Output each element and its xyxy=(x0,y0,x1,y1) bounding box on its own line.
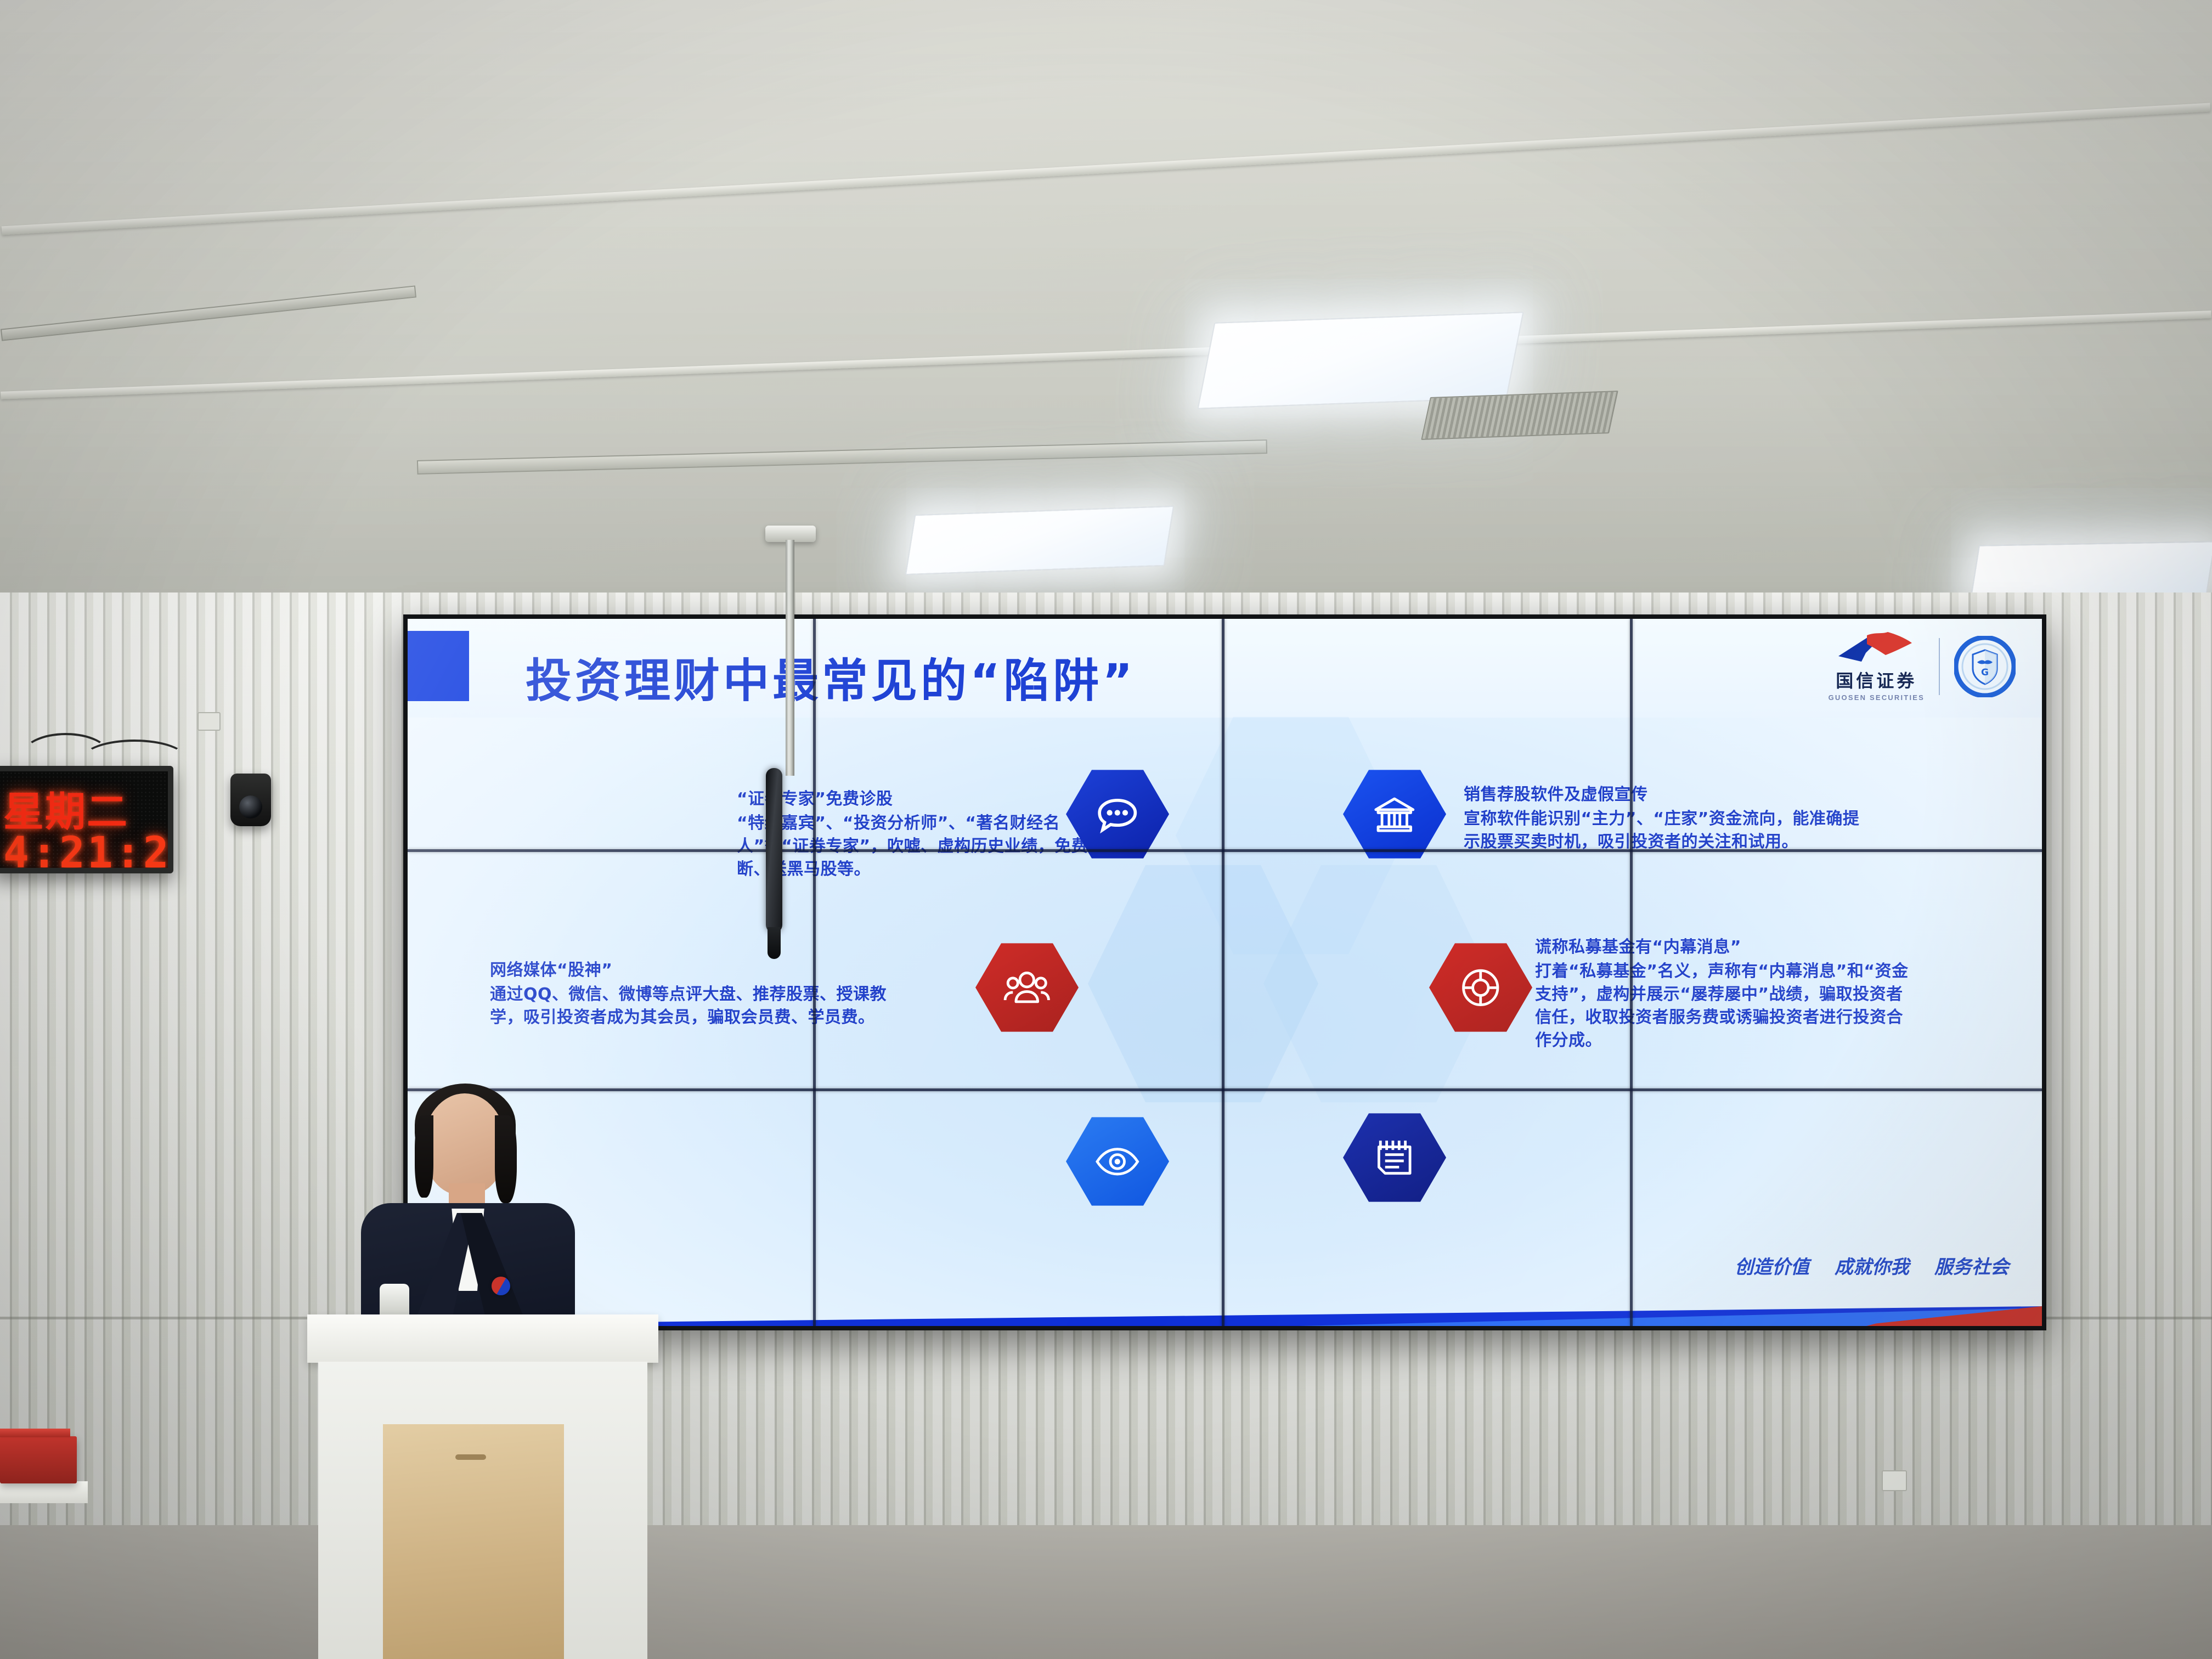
notepad-icon xyxy=(1343,1111,1446,1204)
title-accent-square xyxy=(408,631,469,701)
block-body: “特约嘉宾”、“投资分析师”、“著名财经名人”等“证券专家”，吹嘘、虚构历史业绩… xyxy=(737,814,1105,879)
guosen-flag-mark-icon xyxy=(1835,631,1917,666)
slide-text-block-middle-right: 谎称私募基金有“内幕消息” 打着“私募基金”名义，声称有“内幕消息”和“资金支持… xyxy=(1535,936,1919,1052)
room-scene: 星期二 4:21:24 投资理财中最常见的“陷阱” xyxy=(0,0,2212,1659)
head xyxy=(424,1093,506,1195)
wall-power-socket[interactable] xyxy=(198,712,221,731)
slide-text-block-top-left: “证券专家”免费诊股 “特约嘉宾”、“投资分析师”、“著名财经名人”等“证券专家… xyxy=(737,788,1132,881)
eye-icon xyxy=(1066,1115,1169,1207)
ceiling-light-panel xyxy=(1971,541,2212,597)
block-heading: 网络媒体“股神” xyxy=(490,959,896,982)
guosen-brand-name: 国信证券 xyxy=(1836,667,1917,692)
hanging-boundary-microphone-icon xyxy=(766,768,782,933)
lapel-pin-icon xyxy=(492,1277,510,1295)
microphone-tip xyxy=(768,927,781,959)
ceiling-light-panel xyxy=(905,506,1174,575)
guosen-logo: 国信证券 GUOSEN SECURITIES xyxy=(1829,631,1925,702)
logo-group: 国信证券 GUOSEN SECURITIES xyxy=(1829,631,2016,702)
podium-handle[interactable] xyxy=(455,1454,486,1460)
slide-text-block-middle-left: 网络媒体“股神” 通过QQ、微信、微博等点评大盘、推荐股票、授课教学，吸引投资者… xyxy=(490,959,896,1029)
tagline-part: 成就你我 xyxy=(1835,1252,1909,1279)
block-body: 通过QQ、微信、微博等点评大盘、推荐股票、授课教学，吸引投资者成为其会员，骗取会… xyxy=(490,985,887,1027)
presentation-slide: 投资理财中最常见的“陷阱” 国信证券 GUOSEN SECURITIES xyxy=(408,619,2042,1326)
wall-camera-icon xyxy=(230,774,271,826)
slide-text-block-top-right: 销售荐股软件及虚假宣传 宣称软件能识别“主力”、“庄家”资金流向，能准确提示股票… xyxy=(1464,783,1864,854)
power-cable xyxy=(82,740,187,778)
slide-title: 投资理财中最常见的“陷阱” xyxy=(526,644,1136,710)
led-time-text: 4:21:24 xyxy=(3,828,173,873)
ceiling-air-vent xyxy=(1421,391,1618,440)
podium-top-surface xyxy=(307,1314,658,1363)
guosen-brand-name-en: GUOSEN SECURITIES xyxy=(1829,693,1925,702)
ceiling-light-panel xyxy=(1197,312,1523,409)
video-wall-screen[interactable]: 投资理财中最常见的“陷阱” 国信证券 GUOSEN SECURITIES xyxy=(408,619,2042,1326)
ceiling xyxy=(0,0,2212,647)
block-body: 宣称软件能识别“主力”、“庄家”资金流向，能准确提示股票买卖时机，吸引投资者的关… xyxy=(1464,809,1859,851)
tagline-part: 创造价值 xyxy=(1735,1252,1809,1279)
users-group-icon xyxy=(975,941,1079,1034)
block-body: 打着“私募基金”名义，声称有“内幕消息”和“资金支持”，虚构并展示“屡荐屡中”战… xyxy=(1535,962,1909,1050)
ceiling-mic-pole xyxy=(786,540,794,776)
hair-side-right xyxy=(495,1115,517,1203)
block-heading: 谎称私募基金有“内幕消息” xyxy=(1535,936,1919,959)
tagline-part: 服务社会 xyxy=(1934,1252,2009,1279)
svg-text:G: G xyxy=(1981,667,1989,678)
speaking-podium xyxy=(307,1314,658,1659)
video-wall[interactable]: 投资理财中最常见的“陷阱” 国信证券 GUOSEN SECURITIES xyxy=(403,614,2046,1330)
block-heading: 销售荐股软件及虚假宣传 xyxy=(1464,783,1864,806)
logo-divider xyxy=(1939,638,1940,695)
led-clock-display: 星期二 4:21:24 xyxy=(0,766,173,873)
podium-microphone-icon xyxy=(380,1284,409,1317)
slide-tagline: 创造价值 成就你我 服务社会 xyxy=(1735,1252,2009,1279)
side-table xyxy=(0,1481,88,1503)
hair-side-left xyxy=(415,1115,433,1198)
wall-power-socket[interactable] xyxy=(1882,1470,1907,1491)
stacked-books xyxy=(0,1436,77,1483)
investor-education-seal-icon: G xyxy=(1954,636,2016,697)
